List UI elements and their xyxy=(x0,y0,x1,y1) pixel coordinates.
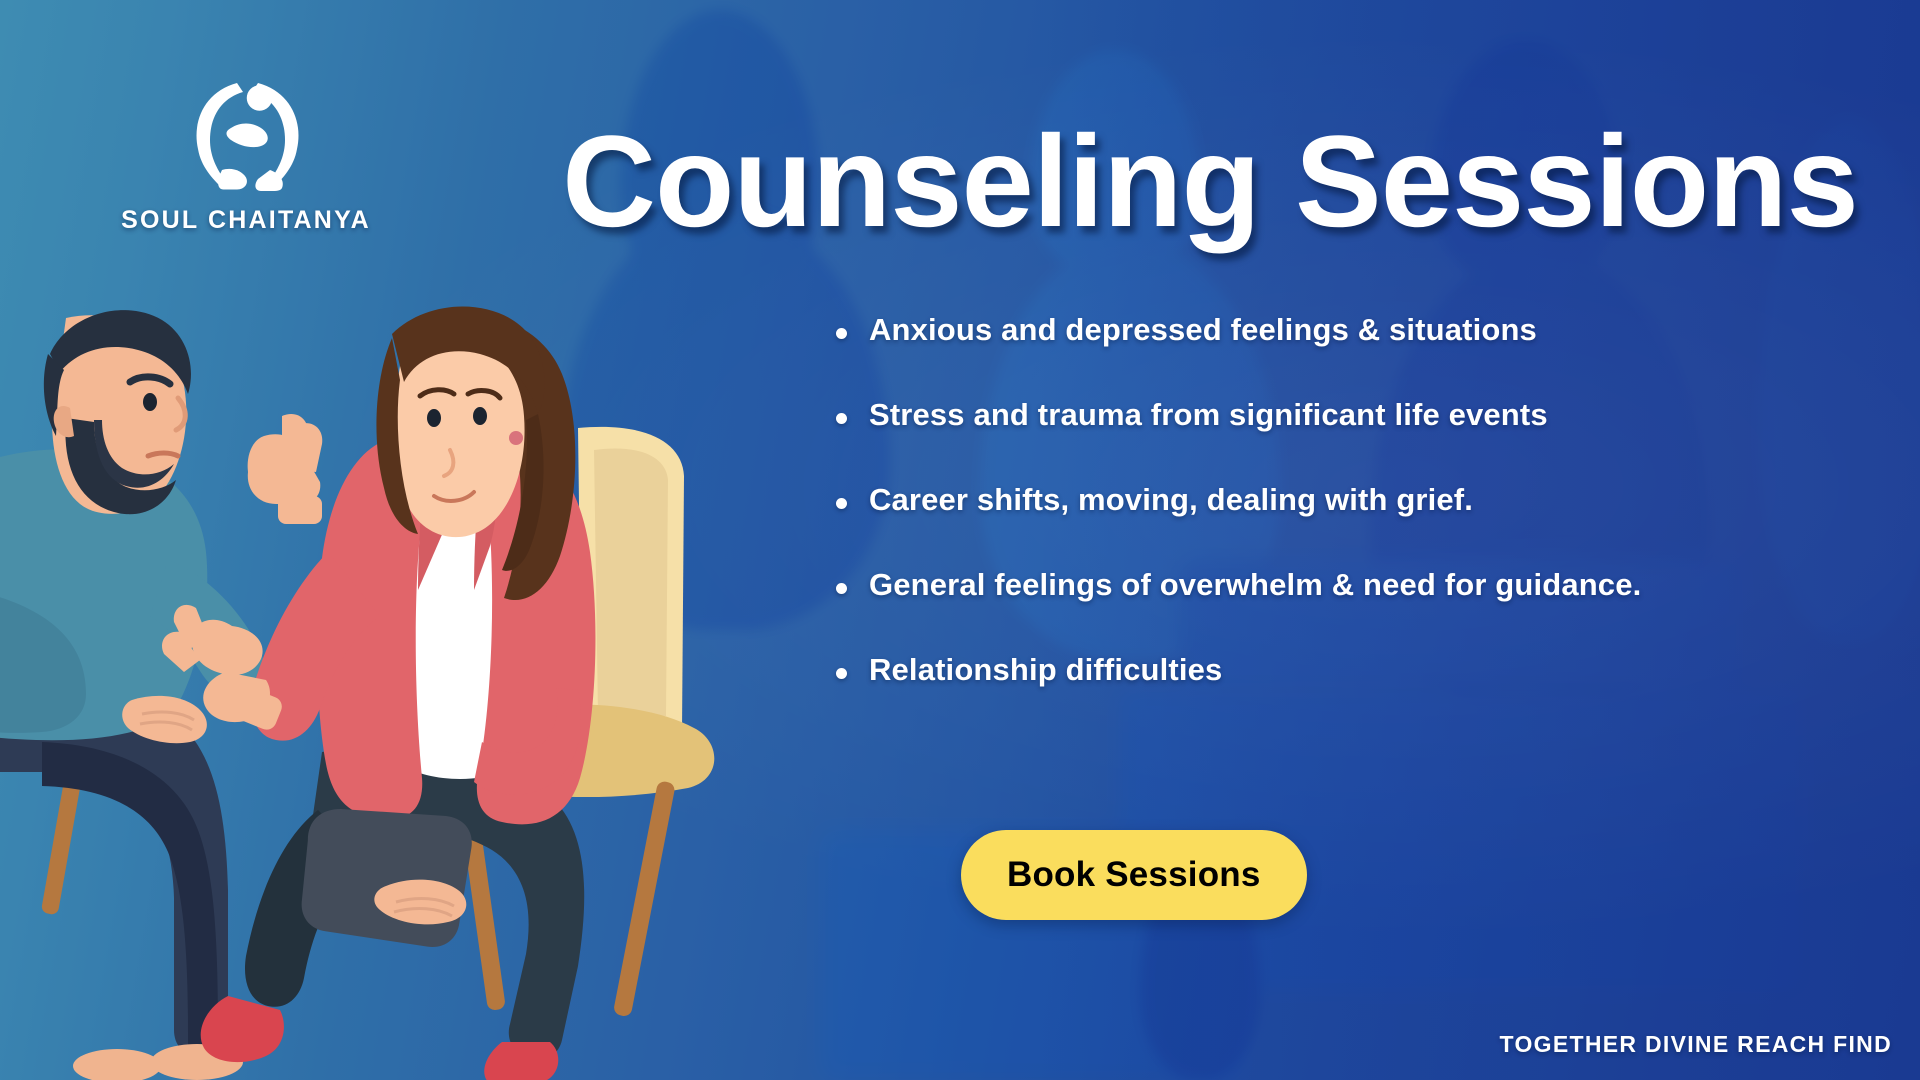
list-item-label: General feelings of overwhelm & need for… xyxy=(869,567,1641,603)
footer-tagline: TOGETHER DIVINE REACH FIND xyxy=(1500,1031,1892,1058)
book-sessions-button[interactable]: Book Sessions xyxy=(961,830,1307,920)
list-item: Anxious and depressed feelings & situati… xyxy=(836,312,1846,348)
list-item-label: Stress and trauma from significant life … xyxy=(869,397,1548,433)
list-item: Stress and trauma from significant life … xyxy=(836,397,1846,433)
list-item: General feelings of overwhelm & need for… xyxy=(836,567,1846,603)
list-item: Career shifts, moving, dealing with grie… xyxy=(836,482,1846,518)
client-gesture-hand xyxy=(248,414,323,524)
list-item-label: Career shifts, moving, dealing with grie… xyxy=(869,482,1473,518)
benefits-list: Anxious and depressed feelings & situati… xyxy=(836,312,1846,737)
brand-logo[interactable]: SOUL CHAITANYA xyxy=(86,62,406,235)
list-item-label: Anxious and depressed feelings & situati… xyxy=(869,312,1537,348)
list-item: Relationship difficulties xyxy=(836,652,1846,688)
two-people-embrace-icon xyxy=(171,62,321,212)
page-title: Counseling Sessions xyxy=(560,116,1860,246)
counselor-and-client-illustration xyxy=(0,290,842,1080)
counseling-sessions-banner: SOUL CHAITANYA Counseling Sessions Anxio… xyxy=(0,0,1920,1080)
brand-name: SOUL CHAITANYA xyxy=(86,206,406,235)
list-item-label: Relationship difficulties xyxy=(869,652,1222,688)
